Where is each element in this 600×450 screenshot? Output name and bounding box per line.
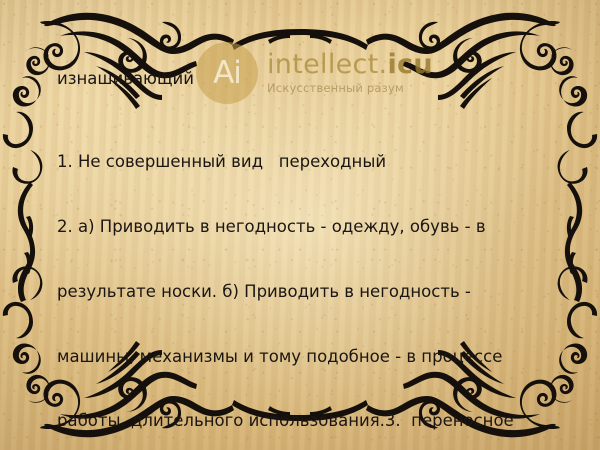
- right-side-rail: [565, 182, 582, 302]
- watermark-brand-prefix: intellect.: [267, 49, 387, 80]
- ai-logo-icon: Ai: [196, 42, 258, 104]
- headword: изнашивающий: [57, 70, 194, 88]
- dictionary-card: Ai intellect.icu Искусственный разум изн…: [0, 0, 600, 450]
- watermark-brand: intellect.icu: [267, 51, 433, 78]
- left-side-rail: [18, 182, 35, 302]
- definition-body: 1. Не совершенный вид переходный 2. а) П…: [57, 108, 557, 450]
- definition-line: результате носки. б) Приводить в негодно…: [57, 281, 557, 303]
- watermark-brand-suffix: icu: [387, 49, 432, 80]
- watermark-subtitle: Искусственный разум: [267, 83, 433, 95]
- definition-line: 1. Не совершенный вид переходный: [57, 151, 557, 173]
- watermark-text-block: intellect.icu Искусственный разум: [267, 51, 433, 95]
- definition-line: машины, механизмы и тому подобное - в пр…: [57, 346, 557, 368]
- definition-line: работы, длительного использования.3. пер…: [57, 410, 557, 432]
- definition-line: 2. а) Приводить в негодность - одежду, о…: [57, 216, 557, 238]
- ai-logo-text: Ai: [213, 58, 241, 89]
- watermark: Ai intellect.icu Искусственный разум: [196, 42, 433, 104]
- top-center-connector: [232, 29, 368, 50]
